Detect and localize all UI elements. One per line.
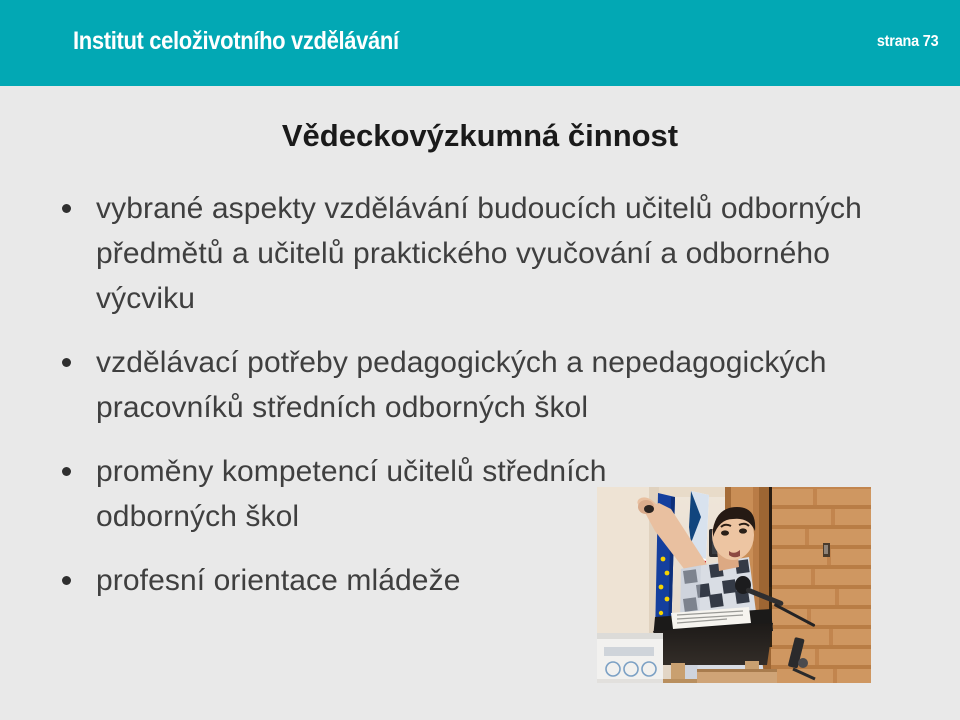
conference-speaker-photo xyxy=(597,487,871,683)
photo-illustration xyxy=(597,487,871,683)
header-bar: Institut celoživotního vzdělávání strana… xyxy=(0,0,960,86)
list-item-label: vzdělávací potřeby pedagogických a neped… xyxy=(96,340,882,430)
list-item: vybrané aspekty vzdělávání budoucích uči… xyxy=(52,186,882,321)
list-item-label: vybrané aspekty vzdělávání budoucích uči… xyxy=(96,186,882,321)
bullet-dot-icon xyxy=(62,576,71,585)
bullet-dot-icon xyxy=(62,467,71,476)
page-title: Vědeckovýzkumná činnost xyxy=(0,118,960,154)
list-item-label: proměny kompetencí učitelů středních odb… xyxy=(96,449,616,539)
institution-title: Institut celoživotního vzdělávání xyxy=(73,27,399,56)
bullet-dot-icon xyxy=(62,358,71,367)
slide: Institut celoživotního vzdělávání strana… xyxy=(0,0,960,720)
bullet-dot-icon xyxy=(62,204,71,213)
list-item: vzdělávací potřeby pedagogických a neped… xyxy=(52,340,882,430)
page-number-label: strana 73 xyxy=(876,33,938,51)
